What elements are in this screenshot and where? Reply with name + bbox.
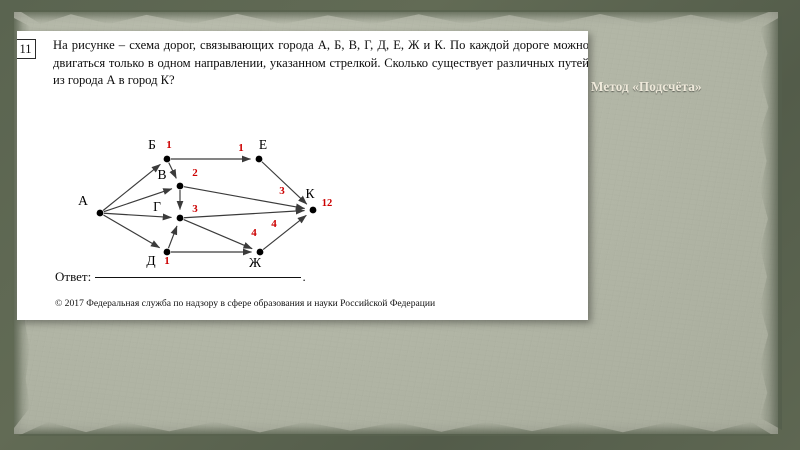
graph-svg: АБВГДЕЖК 1231134412 [17, 101, 588, 276]
graph-edge-A-D [103, 215, 159, 248]
graph-count-label-3: 1 [164, 255, 170, 267]
graph-edge-D-G [168, 226, 177, 248]
graph-node-label-ZH: Ж [249, 255, 262, 270]
graph-edge-A-B [103, 164, 160, 210]
graph-count-label-4: 1 [238, 142, 244, 154]
graph-edge-A-G [104, 213, 172, 217]
road-scheme-diagram: АБВГДЕЖК 1231134412 [17, 101, 588, 276]
question-text: На рисунке – схема дорог, связывающих го… [53, 37, 588, 90]
slide-stage: 11 На рисунке – схема дорог, связывающих… [0, 0, 800, 450]
card-footer-copyright: © 2017 Федеральная служба по надзору в с… [55, 298, 435, 309]
graph-count-label-layer: 1231134412 [164, 139, 332, 267]
graph-count-label-7: 4 [251, 227, 257, 239]
graph-node-label-E: Е [259, 137, 267, 152]
graph-count-label-5: 3 [279, 185, 285, 197]
graph-edge-A-V [104, 189, 172, 212]
graph-count-label-2: 3 [192, 203, 198, 215]
graph-count-label-1: 2 [192, 167, 198, 179]
paper-deckle-top [18, 10, 774, 24]
exam-question-card: 11 На рисунке – схема дорог, связывающих… [17, 31, 588, 320]
paper-deckle-bottom [18, 422, 774, 436]
paper-deckle-right [760, 16, 782, 430]
graph-node-layer [97, 156, 317, 256]
graph-node-G [177, 215, 184, 222]
graph-edge-G-ZH [184, 220, 252, 249]
answer-period: . [302, 269, 305, 284]
graph-count-label-8: 12 [322, 198, 333, 209]
answer-input-blank[interactable] [95, 277, 301, 278]
graph-node-label-K: К [305, 186, 315, 201]
answer-line: Ответ: . [55, 269, 306, 285]
graph-node-label-A: А [78, 193, 88, 208]
graph-count-label-6: 4 [271, 218, 277, 230]
graph-node-V [177, 183, 184, 190]
graph-count-label-0: 1 [166, 139, 172, 151]
answer-label: Ответ: [55, 269, 91, 284]
graph-edge-G-K [184, 211, 305, 218]
graph-edge-B-V [169, 163, 177, 179]
graph-node-A [97, 210, 104, 217]
graph-node-B [164, 156, 171, 163]
graph-edge-V-K [184, 187, 305, 209]
graph-node-E [256, 156, 263, 163]
graph-node-label-D: Д [146, 253, 155, 268]
graph-node-K [310, 207, 317, 214]
graph-node-label-B: Б [148, 137, 156, 152]
graph-node-label-G: Г [153, 199, 161, 214]
slide-caption: Метод «Подсчёта» [591, 79, 702, 95]
graph-edge-ZH-K [263, 215, 306, 249]
graph-edge-layer [103, 159, 307, 252]
graph-node-label-V: В [157, 167, 166, 182]
question-number-box: 11 [17, 39, 36, 59]
graph-edge-E-K [262, 162, 307, 204]
